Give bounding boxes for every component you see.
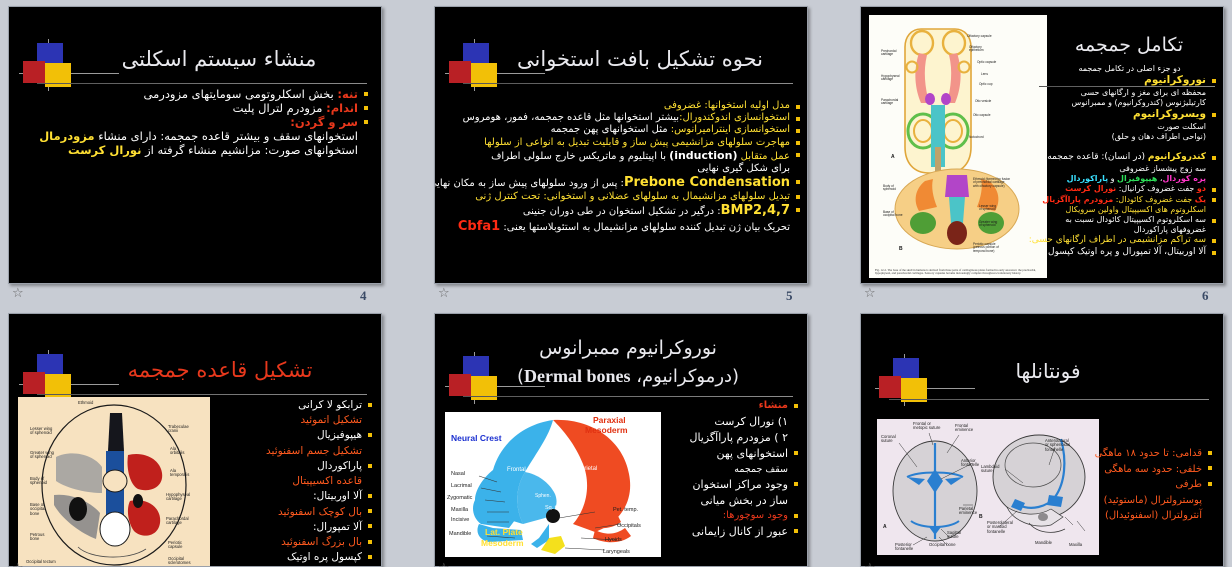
page-number: 6	[1202, 288, 1209, 304]
page-number: 4	[360, 288, 367, 304]
fontanelles-figure: Frontal ormetopic suture Frontaleminence…	[877, 419, 1099, 555]
slide-content: تشکیل قاعده جمجمه	[9, 314, 381, 566]
slide-frame: Olfactory capsule Olfactoryepithelium Op…	[860, 6, 1224, 284]
star-outline-icon[interactable]: ☆	[12, 287, 24, 300]
bullet-list: ترابکو لا کرانی تشکیل اتموئید هیپوفیزیال…	[209, 398, 373, 565]
slide-content: منشاء سیستم اسکلتی تنه: بخش اسکلروتومی س…	[9, 7, 381, 283]
slide-thumbnail-8[interactable]: نوروکرانیوم ممبرانوس (درموکرانیوم، Derma…	[434, 313, 808, 567]
slide-thumbnail-4[interactable]: منشاء سیستم اسکلتی تنه: بخش اسکلروتومی س…	[8, 6, 382, 284]
bullet-list: قدامی: تا حدود ۱۸ ماهگی خلفی: حدود سه ما…	[1083, 446, 1213, 524]
dermal-bones-figure: Neural Crest Paraxial Mesoderm Lat. Plat…	[445, 412, 661, 557]
slide-title: تشکیل قاعده جمجمه	[75, 358, 365, 382]
bullet-list: منشاء ۱) نورال کرست ۲ ) مزودرم پاراآگزیا…	[647, 399, 799, 540]
slide-title-line2-rtl: (درموکرانیوم،	[630, 366, 739, 387]
slide-title: فونتانلها	[903, 360, 1193, 383]
slide-frame: منشاء سیستم اسکلتی تنه: بخش اسکلروتومی س…	[8, 6, 382, 284]
slide-content: فونتانلها	[861, 314, 1223, 566]
slide-frame: تشکیل قاعده جمجمه	[8, 313, 382, 567]
slide-thumbnail-7[interactable]: تشکیل قاعده جمجمه	[8, 313, 382, 567]
slide-footer: ☆ 5	[434, 285, 808, 307]
star-outline-icon[interactable]: ☆	[864, 287, 876, 300]
title-divider	[37, 83, 367, 84]
slide-thumbnail-5[interactable]: نحوه تشکیل بافت استخوانی مدل اولیه استخو…	[434, 6, 808, 284]
slide-footer: ☆ 4	[8, 285, 382, 307]
slide-frame: نوروکرانیوم ممبرانوس (درموکرانیوم، Derma…	[434, 313, 808, 567]
page-number: 5	[786, 288, 793, 304]
star-outline-icon[interactable]: ☆	[12, 562, 24, 567]
slide-footer: ☆	[860, 560, 1224, 567]
slide-footer: ☆	[8, 560, 382, 567]
slide-title: نحوه تشکیل بافت استخوانی	[485, 47, 795, 71]
slide-content: نحوه تشکیل بافت استخوانی مدل اولیه استخو…	[435, 7, 807, 283]
slide-frame: فونتانلها	[860, 313, 1224, 567]
bullet-list: تنه: بخش اسکلروتومی سومایتهای مزودرمی ان…	[17, 87, 369, 157]
bullet-list: مدل اولیه استخوانها: غضروفی استخوانسازی …	[441, 100, 801, 235]
slide-title: تکامل جمجمه	[1045, 35, 1213, 57]
figure-caption: Fig. 12-2. The base of the skull in huma…	[875, 269, 1043, 277]
star-outline-icon[interactable]: ☆	[864, 562, 876, 567]
slide-title: منشاء سیستم اسکلتی	[69, 47, 369, 71]
title-divider	[463, 83, 793, 84]
slide-title-line2-close: )	[517, 366, 524, 387]
title-divider	[463, 396, 793, 397]
skull-base-figure: Ethmoid Lesser wingof sphenoid Greater w…	[18, 397, 210, 566]
star-outline-icon[interactable]: ☆	[438, 287, 450, 300]
slide-title-line2-latin: Dermal bones	[524, 366, 631, 387]
slide-content: نوروکرانیوم ممبرانوس (درموکرانیوم، Derma…	[435, 314, 807, 566]
slide-footer: ☆ 6	[860, 285, 1224, 307]
slide-footer: ☆	[434, 560, 808, 567]
slide-frame: نحوه تشکیل بافت استخوانی مدل اولیه استخو…	[434, 6, 808, 284]
bullet-list: دو جزء اصلی در تکامل جمجمه نوروکرانیوم م…	[1042, 64, 1217, 258]
slide-thumbnail-9[interactable]: فونتانلها	[860, 313, 1224, 567]
slide-title-line2: (درموکرانیوم، Dermal bones)	[463, 366, 793, 388]
star-outline-icon[interactable]: ☆	[438, 562, 450, 567]
slide-content: Olfactory capsule Olfactoryepithelium Op…	[861, 7, 1223, 283]
chondrocranium-figure: Olfactory capsule Olfactoryepithelium Op…	[869, 15, 1047, 278]
handout-page: منشاء سیستم اسکلتی تنه: بخش اسکلروتومی س…	[0, 0, 1232, 567]
slide-thumbnail-6[interactable]: Olfactory capsule Olfactoryepithelium Op…	[860, 6, 1224, 284]
title-divider	[889, 399, 1209, 400]
slide-title-line1: نوروکرانیوم ممبرانوس	[463, 338, 793, 360]
title-divider	[37, 394, 367, 395]
